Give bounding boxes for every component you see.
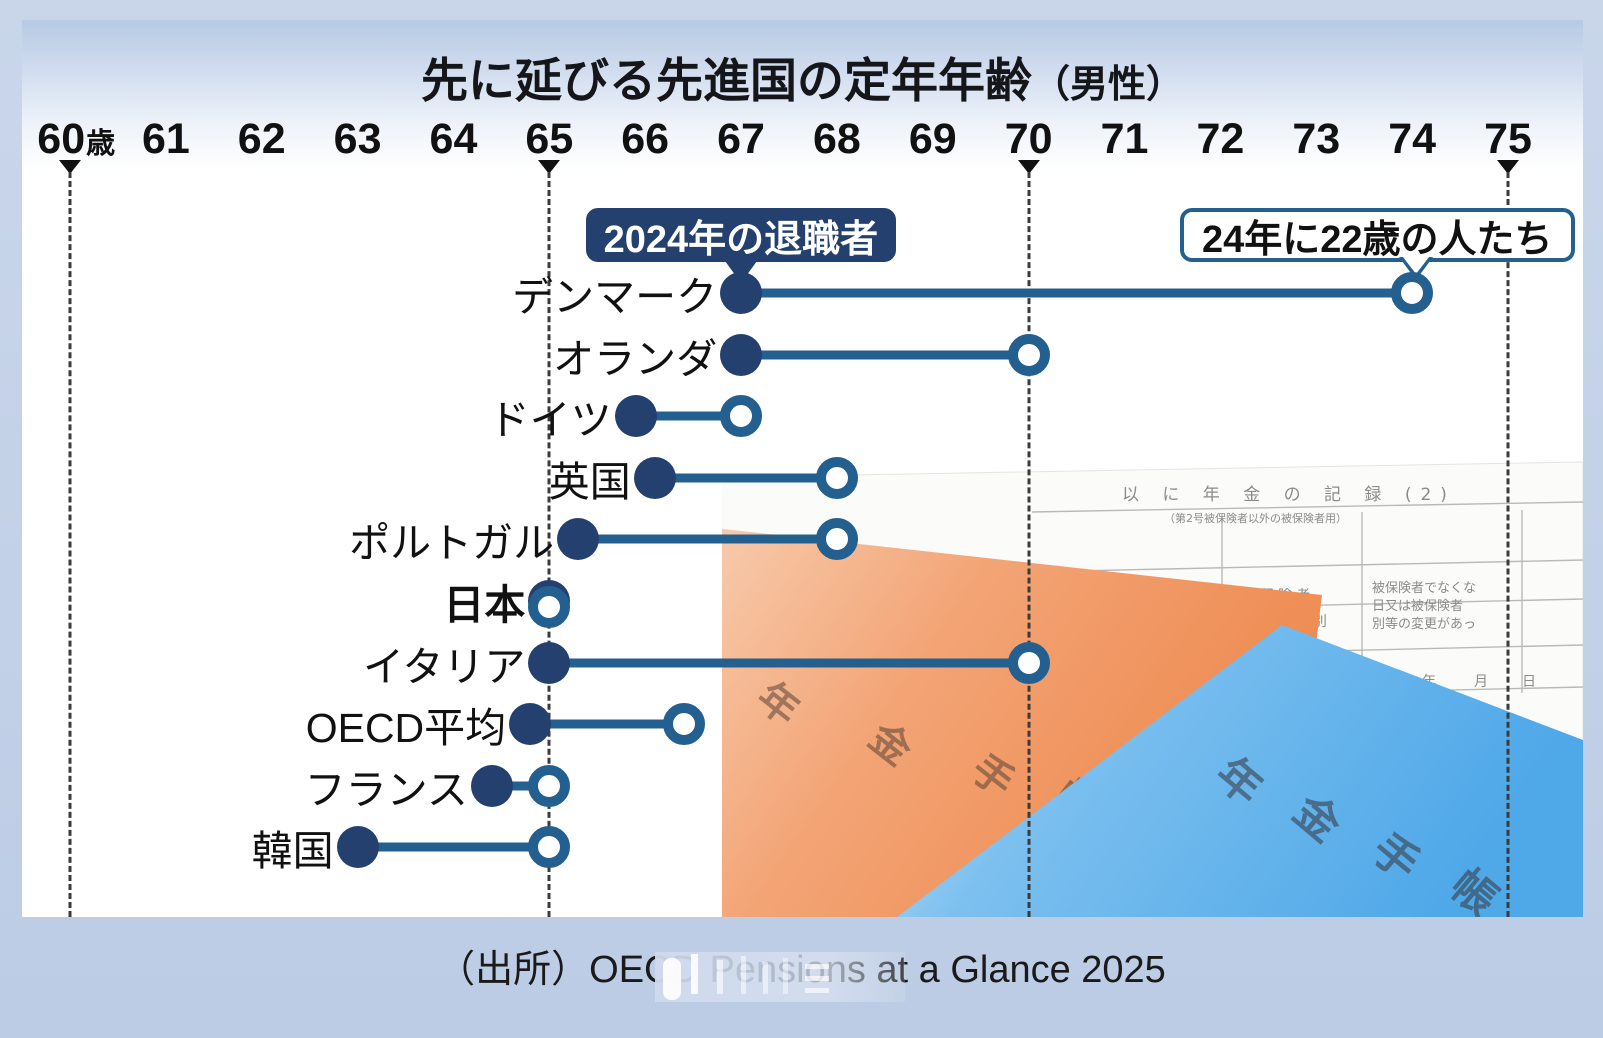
range-connector — [741, 289, 1412, 298]
range-connector — [549, 658, 1028, 667]
marker-2024-retiree — [509, 703, 551, 745]
row-label-9: 韓国 — [252, 817, 334, 877]
marker-2024-retiree — [557, 518, 599, 560]
axis-tick-63: 63 — [334, 115, 382, 164]
row-label-8: フランス — [305, 756, 468, 816]
axis-tick-75: 75 — [1484, 115, 1532, 164]
marker-2024-retiree — [471, 765, 513, 807]
axis-tick-70: 70 — [1005, 115, 1053, 164]
legend-2024-retirees-label: 2024年の退職者 — [604, 208, 879, 263]
axis-tick-60: 60歳 — [37, 115, 115, 164]
axis-tick-74: 74 — [1388, 115, 1436, 164]
axis-tick-labels: 60歳616263646566676869707172737475 — [22, 20, 1583, 80]
source-text: （出所）OECD Pensions at a Glance 2025 — [437, 949, 1166, 991]
marker-age22-in-2024 — [1008, 642, 1050, 684]
row-label-1: オランダ — [553, 325, 717, 385]
marker-age22-in-2024 — [816, 518, 858, 560]
axis-tick-71: 71 — [1101, 115, 1149, 164]
legend-age22-in-2024: 24年に22歳の人たち — [1180, 208, 1575, 262]
row-label-2: ドイツ — [489, 386, 612, 446]
source-note: （出所）OECD Pensions at a Glance 2025 — [0, 938, 1603, 993]
range-connector — [530, 720, 683, 729]
row-label-6: イタリア — [363, 633, 525, 693]
infographic-frame: 以 に 年 金 の 記 録 (2) （第2号被保険者以外の被保険者用） 被保険者… — [0, 0, 1603, 1038]
marker-age22-in-2024 — [528, 826, 570, 868]
axis-tick-72: 72 — [1196, 115, 1244, 164]
row-label-5: 日本 — [443, 571, 525, 631]
marker-age22-in-2024 — [816, 457, 858, 499]
axis-tick-69: 69 — [909, 115, 957, 164]
marker-2024-retiree — [528, 642, 570, 684]
marker-2024-retiree — [634, 457, 676, 499]
marker-2024-retiree — [720, 334, 762, 376]
axis-tick-61: 61 — [142, 115, 190, 164]
range-connector — [578, 535, 837, 544]
range-connector — [358, 843, 550, 852]
axis-tick-66: 66 — [621, 115, 669, 164]
marker-2024-retiree — [720, 272, 762, 314]
marker-2024-retiree — [337, 826, 379, 868]
axis-tick-68: 68 — [813, 115, 861, 164]
marker-age22-in-2024 — [1391, 272, 1433, 314]
row-label-4: ポルトガル — [349, 509, 554, 569]
marker-age22-in-2024 — [528, 586, 570, 628]
chart-row: フランス — [22, 756, 1583, 816]
chart-row: イタリア — [22, 633, 1583, 693]
chart-row: 英国 — [22, 448, 1583, 508]
range-connector — [655, 473, 837, 482]
legend-age22-in-2024-label: 24年に22歳の人たち — [1202, 208, 1553, 263]
axis-tick-65: 65 — [525, 115, 573, 164]
chart-row: デンマーク — [22, 263, 1583, 323]
chart-row: OECD平均 — [22, 694, 1583, 754]
row-label-3: 英国 — [549, 448, 631, 508]
axis-tick-62: 62 — [238, 115, 286, 164]
legend-2024-retirees: 2024年の退職者 — [586, 208, 897, 262]
chart-panel: 以 に 年 金 の 記 録 (2) （第2号被保険者以外の被保険者用） 被保険者… — [22, 20, 1583, 917]
marker-2024-retiree — [615, 395, 657, 437]
range-connector — [741, 350, 1029, 359]
chart-row: ドイツ — [22, 386, 1583, 446]
chart-row: ポルトガル — [22, 509, 1583, 569]
row-label-0: デンマーク — [512, 263, 717, 323]
axis-tick-67: 67 — [717, 115, 765, 164]
chart-row: 韓国 — [22, 817, 1583, 877]
row-label-7: OECD平均 — [306, 694, 506, 754]
chart-row: 日本 — [22, 571, 1583, 631]
marker-age22-in-2024 — [663, 703, 705, 745]
marker-age22-in-2024 — [720, 395, 762, 437]
marker-age22-in-2024 — [1008, 334, 1050, 376]
chart-row: オランダ — [22, 325, 1583, 385]
axis-tick-73: 73 — [1292, 115, 1340, 164]
axis-tick-64: 64 — [430, 115, 478, 164]
marker-age22-in-2024 — [528, 765, 570, 807]
